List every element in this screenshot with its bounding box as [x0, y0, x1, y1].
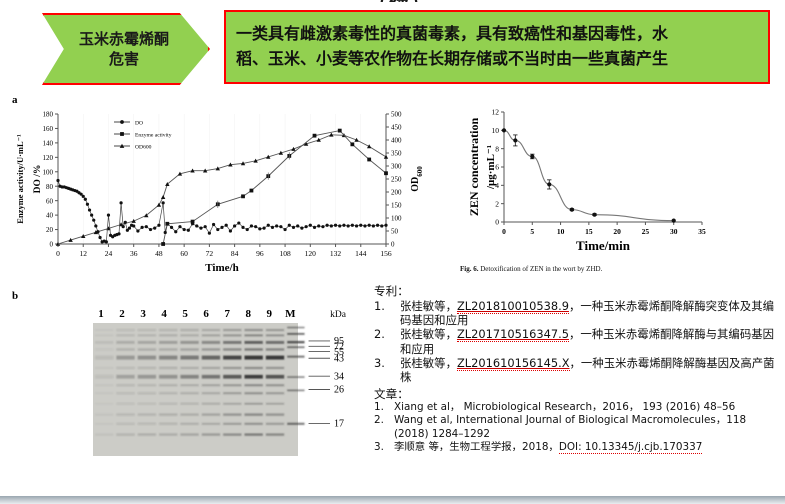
gel-lane-label: 7	[224, 308, 230, 320]
xtick: 120	[305, 249, 317, 258]
ytick-left: 40	[46, 212, 54, 220]
article-item-number: 3.	[374, 441, 394, 454]
y-axis-label-left: Enzyme activity/U·mL⁻¹	[15, 134, 25, 224]
patent-item-id: ZL201610156145.X	[457, 356, 570, 371]
ytick: 2	[495, 199, 499, 208]
xtick: 156	[380, 249, 392, 258]
article-item-doi[interactable]: DOI: 10.13345/j.cjb.170337	[559, 441, 702, 454]
xtick: 144	[355, 249, 367, 258]
patents-heading: 专利：	[374, 284, 782, 299]
gel-lane-label: 8	[245, 308, 251, 320]
ytick-left: 80	[46, 183, 54, 191]
patent-item: 3.张桂敏等，ZL201610156145.X，一种玉米赤霉烯酮降解酶基因及高产…	[374, 356, 782, 385]
slide-canvas: （续） 玉米赤霉烯酮 危害 一类具有雌激素毒性的真菌毒素，具有致癌性和基因毒性，…	[0, 0, 785, 504]
ytick-right: 50	[391, 228, 399, 236]
ytick: 10	[492, 126, 500, 135]
figure-caption-prefix: Fig. 6.	[460, 265, 478, 273]
article-item-body: Wang et al, International Journal of Bio…	[394, 414, 782, 440]
article-item: 3.李顺意 等，生物工程学报，2018，DOI: 10.13345/j.cjb.…	[374, 441, 782, 454]
ytick-right: 150	[391, 202, 402, 210]
bottom-bar	[0, 496, 785, 504]
article-item-text: Wang et al, International Journal of Bio…	[394, 414, 746, 439]
ytick-left: 180	[43, 111, 54, 119]
legend-label: DO	[135, 120, 143, 126]
y-axis-label-unit: /μg·mL⁻¹	[485, 145, 497, 190]
fermentation-chart-svg: 0204060801001201401601800501001502002503…	[14, 100, 426, 278]
patent-item-author: 张桂敏等，	[400, 299, 457, 313]
article-item-text: 李顺意 等，生物工程学报，2018，	[394, 441, 559, 453]
gel-lane-label: 3	[140, 308, 146, 320]
description-line-2: 稻、玉米、小麦等农作物在长期存储或不当时由一些真菌产生	[236, 47, 760, 72]
patent-item: 2.张桂敏等，ZL201710516347.5，一种玉米赤霉烯酮降解酶与其编码基…	[374, 327, 782, 356]
gel-lane-label: 5	[182, 308, 188, 320]
ytick-right: 450	[391, 124, 402, 132]
chevron-label-line1: 玉米赤霉烯酮	[54, 29, 194, 49]
xtick: 0	[502, 227, 506, 236]
gel-lane-label: 4	[161, 308, 167, 320]
xtick: 72	[206, 249, 214, 258]
ytick-left: 160	[43, 125, 54, 133]
article-item-number: 2.	[374, 414, 394, 440]
article-item-number: 1.	[374, 401, 394, 414]
sds-page-gel-svg: 123456789MkDa95725543342617	[8, 290, 368, 490]
xtick: 96	[256, 249, 264, 258]
y-axis-label: ZEN concentration	[467, 118, 481, 217]
patent-item-body: 张桂敏等，ZL201610156145.X，一种玉米赤霉烯酮降解酶基因及高产菌株	[400, 356, 782, 385]
patent-item-id: ZL201710516347.5	[457, 327, 569, 342]
ytick-right: 200	[391, 189, 402, 197]
xtick: 25	[642, 227, 650, 236]
xtick: 60	[180, 249, 188, 258]
patent-item-id: ZL201810010538.9	[457, 299, 569, 314]
chevron-label-line2: 危害	[54, 49, 194, 69]
chevron-callout: 玉米赤霉烯酮 危害	[42, 13, 210, 85]
patent-item-author: 张桂敏等，	[400, 327, 457, 341]
ytick-left: 120	[43, 154, 54, 162]
slide-title-truncated: （续）	[250, 0, 550, 2]
gel-lane-label: M	[285, 308, 296, 320]
gel-lane-label: 1	[98, 308, 104, 320]
article-item-body: 李顺意 等，生物工程学报，2018，DOI: 10.13345/j.cjb.17…	[394, 441, 782, 454]
chevron-label: 玉米赤霉烯酮 危害	[44, 29, 208, 70]
ytick-right: 350	[391, 150, 402, 158]
xtick: 84	[231, 249, 239, 258]
zen-detox-chart-svg: 02468101205101520253035Time/minZEN conce…	[444, 100, 774, 262]
figure-caption-text: Detoxification of ZEN in the wort by ZHD…	[480, 265, 602, 273]
article-item: 1.Xiang et al， Microbiological Research，…	[374, 401, 782, 414]
xtick: 30	[670, 227, 678, 236]
gel-marker-label: 17	[334, 419, 344, 430]
ytick-left: 20	[46, 226, 54, 234]
xtick: 108	[279, 249, 291, 258]
description-line-1: 一类具有雌激素毒性的真菌毒素，具有致癌性和基因毒性，水	[236, 22, 760, 47]
patent-item-number: 2.	[374, 327, 400, 356]
ytick: 0	[495, 218, 499, 227]
ytick-right: 100	[391, 215, 402, 223]
y-axis-label-left2: DO /%	[33, 165, 43, 194]
legend-label: Enzyme activity	[135, 132, 172, 138]
xtick: 35	[698, 227, 706, 236]
patent-item-number: 3.	[374, 356, 400, 385]
patent-item-number: 1.	[374, 299, 400, 328]
article-item-body: Xiang et al， Microbiological Research，20…	[394, 401, 782, 414]
article-item: 2.Wang et al, International Journal of B…	[374, 414, 782, 440]
xtick: 10	[557, 227, 565, 236]
patent-list: 1.张桂敏等，ZL201810010538.9，一种玉米赤霉烯酮降解酶突变体及其…	[374, 299, 782, 385]
ytick-right: 250	[391, 176, 402, 184]
xtick: 12	[79, 249, 87, 258]
x-axis-label: Time/min	[576, 238, 631, 253]
gel-unit-label: kDa	[330, 310, 347, 320]
article-list: 1.Xiang et al， Microbiological Research，…	[374, 401, 782, 453]
xtick: 132	[330, 249, 342, 258]
xtick: 36	[130, 249, 138, 258]
y-axis-label-right: OD600	[410, 166, 424, 192]
ytick-left: 140	[43, 139, 54, 147]
gel-lane-label: 2	[119, 308, 125, 320]
x-axis-label: Time/h	[205, 262, 238, 274]
xtick: 20	[613, 227, 621, 236]
gel-marker-label: 34	[334, 371, 344, 382]
ytick-right: 400	[391, 137, 402, 145]
gel-marker-label: 43	[334, 353, 344, 364]
ytick-left: 60	[46, 197, 54, 205]
ytick-right: 500	[391, 111, 402, 119]
xtick: 24	[105, 249, 113, 258]
ytick-left: 100	[43, 168, 54, 176]
patent-item-body: 张桂敏等，ZL201710516347.5，一种玉米赤霉烯酮降解酶与其编码基因和…	[400, 327, 782, 356]
sds-page-gel: 123456789MkDa95725543342617	[8, 290, 368, 490]
ytick-left: 0	[50, 241, 54, 249]
patent-item-body: 张桂敏等，ZL201810010538.9，一种玉米赤霉烯酮降解酶突变体及其编码…	[400, 299, 782, 328]
patent-item: 1.张桂敏等，ZL201810010538.9，一种玉米赤霉烯酮降解酶突变体及其…	[374, 299, 782, 328]
xtick: 5	[530, 227, 534, 236]
gel-marker-label: 26	[334, 385, 344, 396]
legend-label: OD600	[135, 144, 152, 150]
description-box: 一类具有雌激素毒性的真菌毒素，具有致癌性和基因毒性，水 稻、玉米、小麦等农作物在…	[224, 10, 770, 84]
ytick-right: 0	[391, 241, 395, 249]
ytick: 12	[492, 108, 500, 117]
references-panel: 专利： 1.张桂敏等，ZL201810010538.9，一种玉米赤霉烯酮降解酶突…	[374, 284, 782, 498]
fermentation-chart: 0204060801001201401601800501001502002503…	[14, 100, 426, 278]
articles-heading: 文章：	[374, 387, 782, 402]
ytick-right: 300	[391, 163, 402, 171]
xtick: 48	[155, 249, 163, 258]
gel-lane-label: 6	[203, 308, 209, 320]
xtick: 15	[585, 227, 593, 236]
gel-lane-label: 9	[267, 308, 273, 320]
patent-item-author: 张桂敏等，	[400, 356, 457, 370]
article-item-text: Xiang et al， Microbiological Research，20…	[394, 401, 735, 413]
figure-caption: Fig. 6. Detoxification of ZEN in the wor…	[460, 265, 760, 273]
zen-detox-chart: 02468101205101520253035Time/minZEN conce…	[444, 100, 774, 262]
xtick: 0	[56, 249, 60, 258]
